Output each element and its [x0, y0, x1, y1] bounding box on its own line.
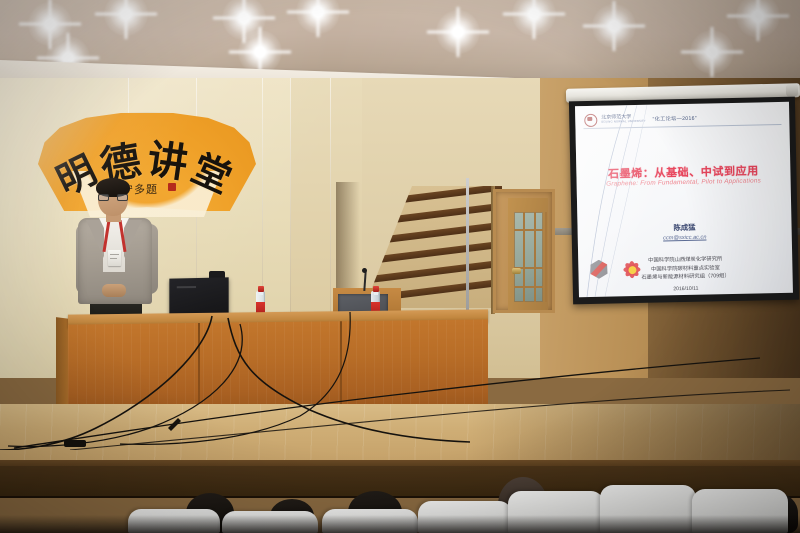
ceiling-light-6 [296, 0, 340, 34]
stair-handrail [466, 178, 469, 318]
speaker-name-badge [108, 250, 121, 266]
ceiling-light-9 [592, 4, 636, 48]
ceiling-light-10 [690, 30, 734, 74]
ceiling-light-8 [512, 0, 556, 36]
side-door[interactable] [493, 189, 555, 313]
screen-glare [575, 102, 709, 297]
microphone-icon [362, 268, 367, 273]
door-glass-panel [514, 212, 543, 302]
ceiling-light-5 [238, 30, 282, 74]
eyeglasses-icon [98, 194, 128, 201]
lecture-hall-photo: 明 德 讲 堂 刘宁多题 北京师范大学 BEIJING NORMAL UNIVE… [0, 0, 800, 533]
speaker [72, 180, 164, 320]
speaker-hands [102, 284, 126, 297]
ceiling-light-11 [736, 0, 780, 38]
audience-area [0, 466, 800, 533]
ceiling-light-4 [222, 0, 266, 40]
ceiling-light-3 [104, 0, 148, 36]
projection-screen-frame: 北京师范大学 BEIJING NORMAL UNIVERSITY “化工论坛—2… [569, 97, 799, 305]
projection-screen: 北京师范大学 BEIJING NORMAL UNIVERSITY “化工论坛—2… [575, 102, 793, 297]
door-handle-icon[interactable] [512, 268, 521, 274]
ceiling-light-1 [28, 2, 72, 46]
stage-cables [0, 300, 800, 450]
ceiling-light-7 [436, 10, 480, 54]
foreground-shadow [0, 515, 800, 533]
